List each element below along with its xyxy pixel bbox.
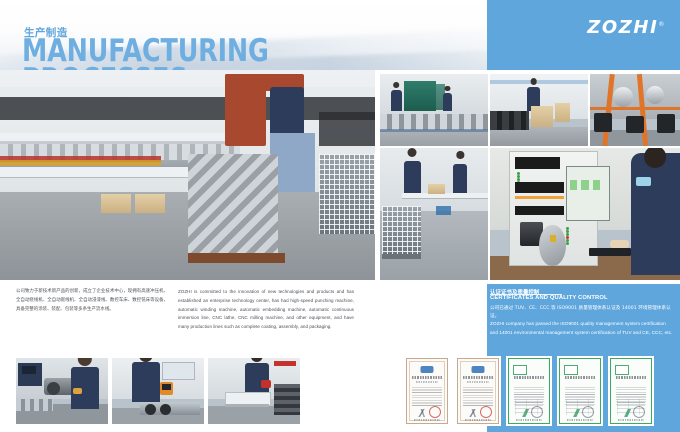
cert-subtitle-line (467, 381, 489, 383)
cert-footer-line (465, 419, 491, 421)
cert-check-icon (513, 365, 527, 375)
photo-test-bench (490, 148, 680, 280)
cert-emblem-icon (421, 366, 434, 373)
photo-winding-line (380, 74, 488, 146)
cert-check-icon (615, 365, 629, 375)
cert-iso9001 (404, 356, 450, 426)
cert-stamp-icon (480, 406, 492, 418)
cert-stamp-icon (429, 406, 441, 418)
photo-workshop (380, 148, 488, 280)
cert-title-line (463, 376, 493, 379)
photo-machining (16, 358, 108, 424)
intro-paragraph-en: ZOZHI is committed to the innovation of … (178, 288, 354, 332)
photo-painting-line (590, 74, 680, 146)
cert-check-icon (564, 365, 578, 375)
cert-frame (406, 358, 448, 424)
cert-iso14001 (455, 356, 501, 426)
photo-packing (490, 74, 588, 146)
cert-footer-line (567, 419, 593, 421)
brochure-page: ZOZHI® 生产制造 MANUFACTURING PROCESSES (0, 0, 680, 432)
cert-ce-3 (608, 356, 654, 426)
cert-frame (610, 358, 652, 424)
cert-body-lines (412, 387, 442, 406)
certificates-text-en: ZOZHI company has passed the ISO9001 qua… (490, 320, 674, 338)
cert-footer-line (618, 419, 644, 421)
cert-emblem-icon (472, 366, 485, 373)
cert-stamp-icon (582, 406, 594, 418)
cert-ce-1 (506, 356, 552, 426)
cert-subtitle-line (416, 381, 438, 383)
cert-stamp-icon (633, 406, 645, 418)
cert-footer-line (516, 419, 542, 421)
cert-frame (559, 358, 601, 424)
cert-title-line (565, 376, 595, 379)
photo-assembly-bench (208, 358, 300, 424)
trademark-icon: ® (658, 21, 666, 28)
cert-footer-line (414, 419, 440, 421)
cert-frame (508, 358, 550, 424)
photo-inspection (112, 358, 204, 424)
cert-body-lines (463, 387, 493, 406)
company-logo: ZOZHI® (587, 17, 666, 38)
cert-stamp-icon (531, 406, 543, 418)
cert-title-line (412, 376, 442, 379)
photo-assembly-line (0, 70, 375, 280)
cert-title-line (616, 376, 646, 379)
cert-frame (457, 358, 499, 424)
logo-text: ZOZHI (587, 17, 658, 38)
intro-paragraph-cn: 公司致力于新技术新产品的创新，成立了企业技术中心，现拥有高速冲压机、全自动绕线机… (16, 288, 168, 314)
cert-title-line (514, 376, 544, 379)
cert-ce-2 (557, 356, 603, 426)
certificates-heading-en: CERTIFICATES AND QUALITY CONTROL (490, 295, 676, 301)
